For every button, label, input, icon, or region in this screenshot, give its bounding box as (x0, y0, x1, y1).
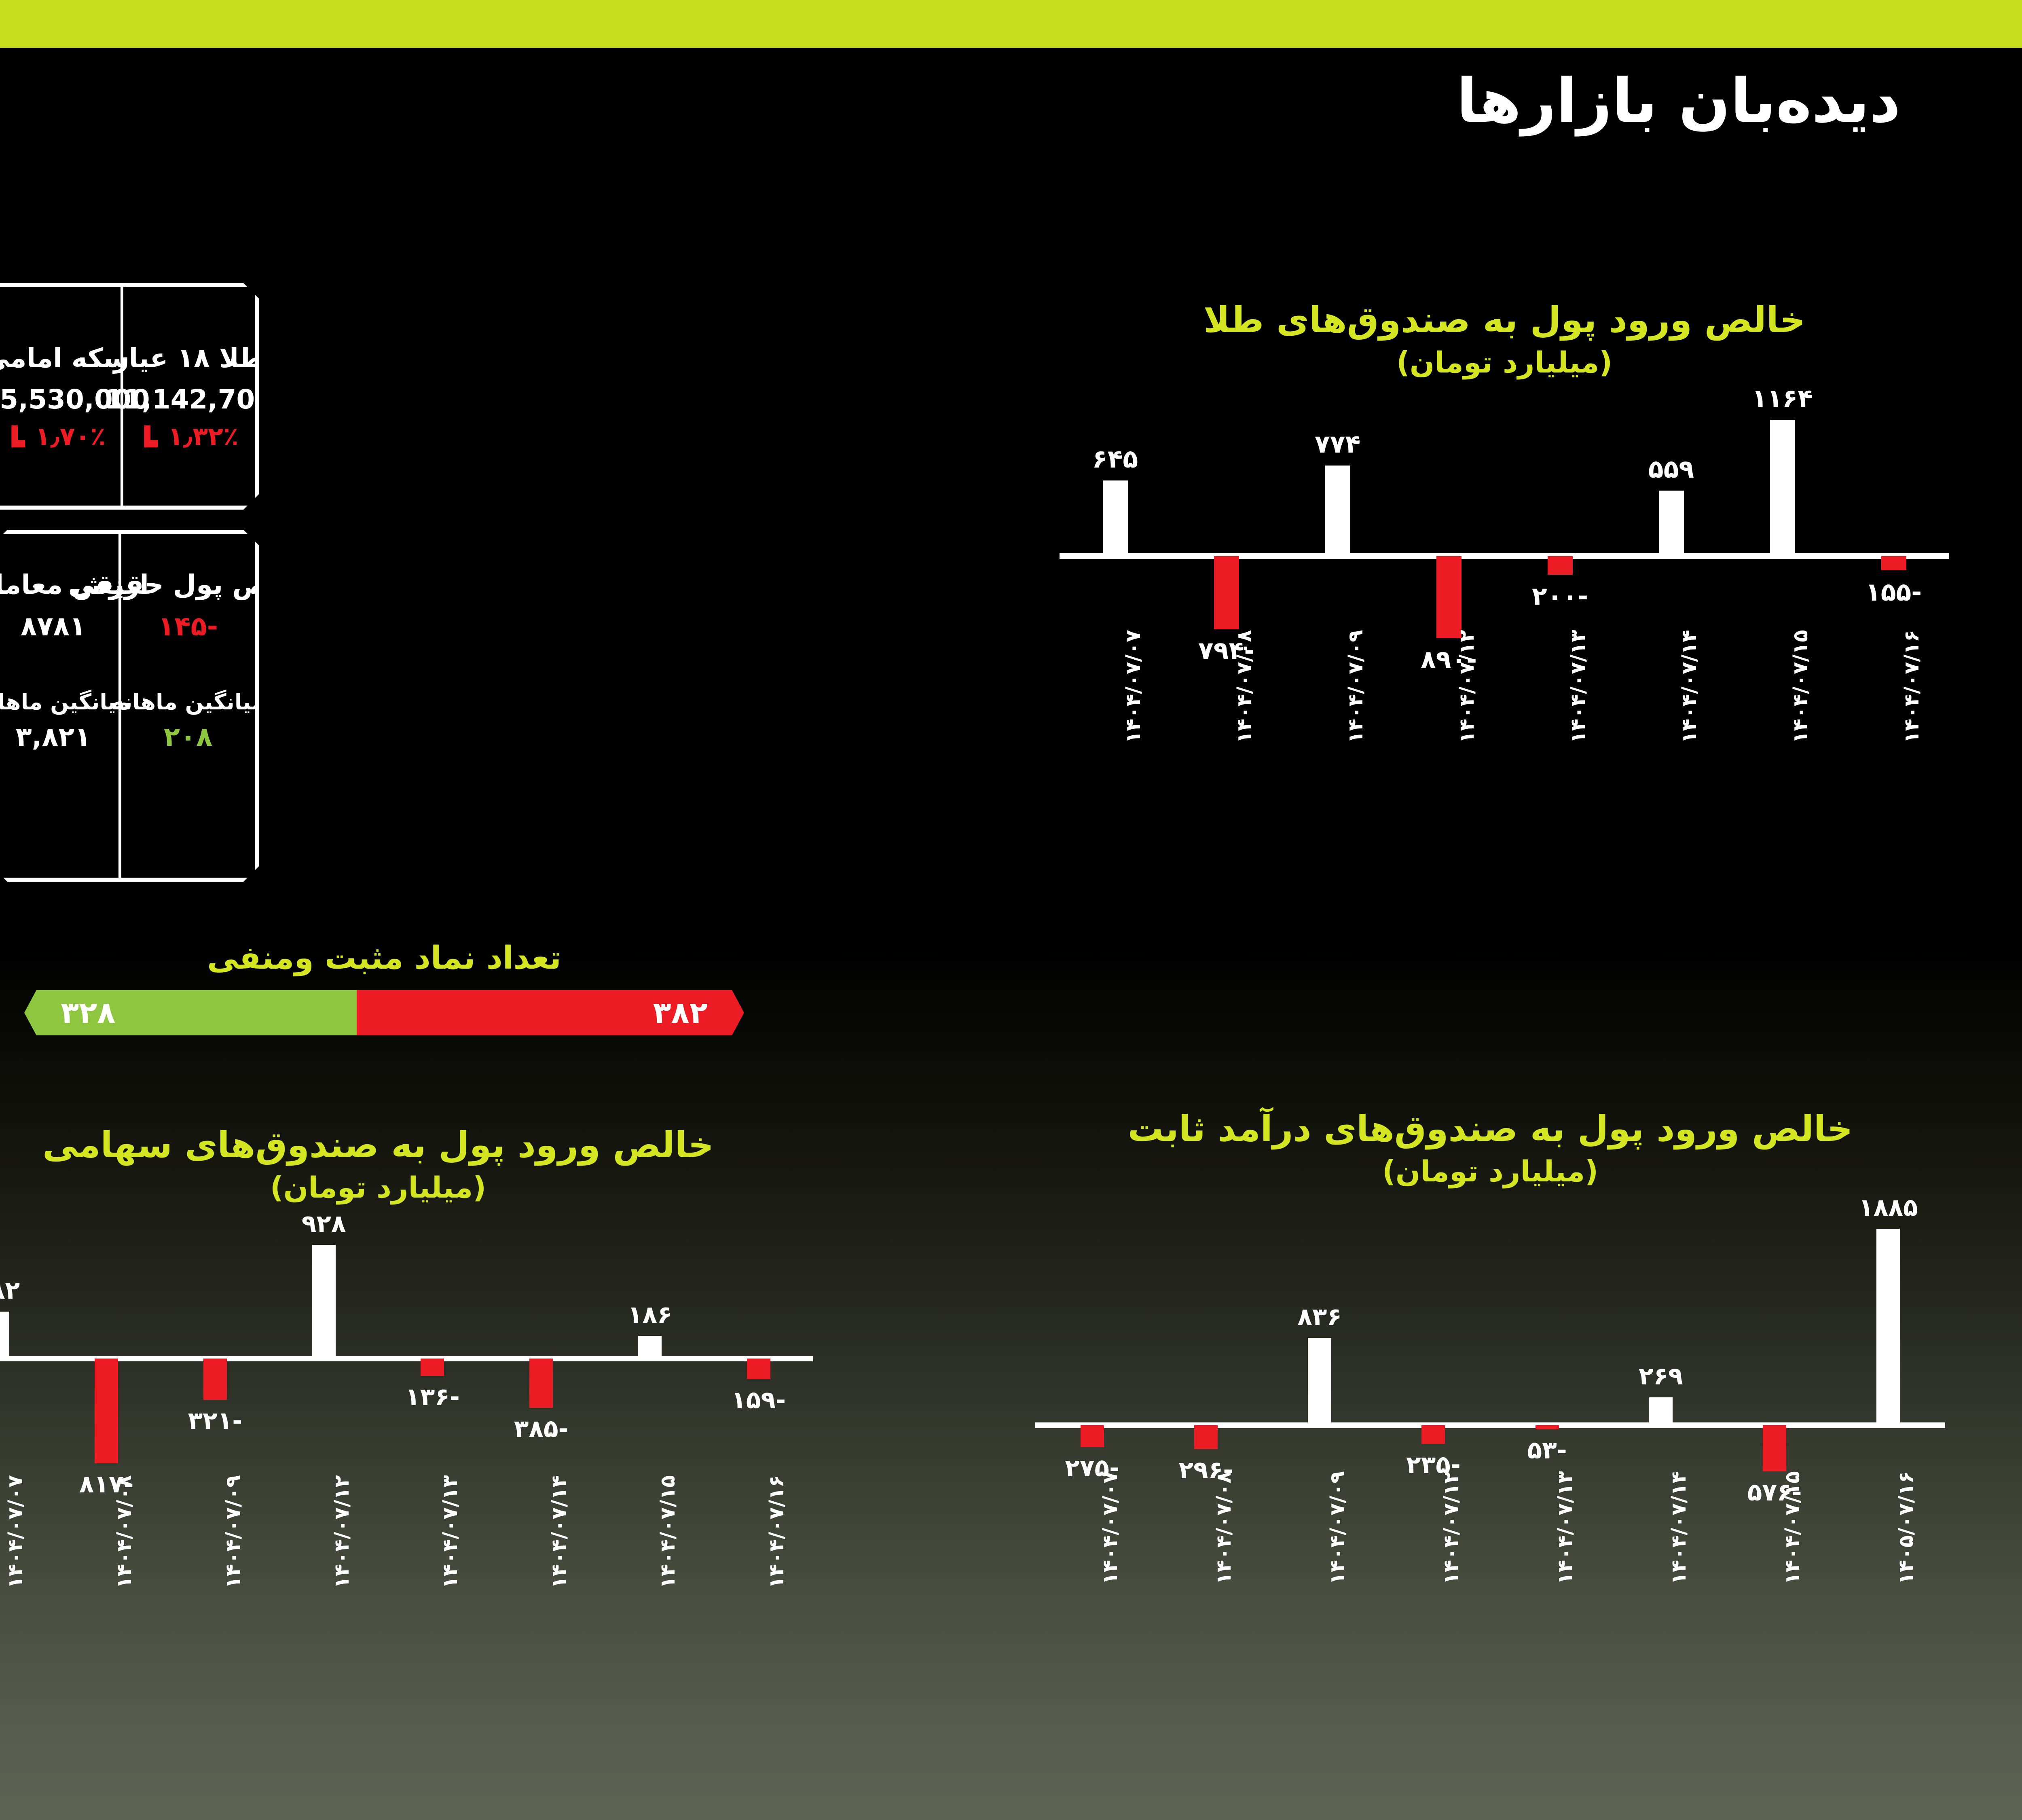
chart-bar-label: -۲۹۶ (1145, 1458, 1267, 1482)
chart-axis-line (1035, 1422, 1945, 1428)
chart-fixed-income-funds-net-inflow: خالص ورود پول به صندوق‌های درآمد ثابت(می… (1035, 1108, 1945, 1475)
chart-plot-area: -۲۷۵۱۴۰۴/۰۷/۰۷-۲۹۶۱۴۰۴/۰۷/۰۸۸۳۶۱۴۰۴/۰۷/۰… (1035, 1225, 1945, 1475)
chart-axis-line (0, 1356, 813, 1361)
chart-bar (638, 1336, 662, 1359)
chart-bar (1536, 1425, 1559, 1429)
chart-x-label: ۱۴۰۴/۰۷/۱۴ (549, 1475, 569, 1589)
chart-x-label: ۱۴۰۴/۰۷/۰۸ (1214, 1471, 1234, 1585)
chart-subtitle: (میلیارد تومان) (1035, 1155, 1945, 1188)
chart-x-label: ۱۴۰۴/۰۷/۰۹ (223, 1475, 243, 1589)
chart-subtitle: (میلیارد تومان) (0, 1171, 813, 1204)
chart-bar-label: -۳۲۱ (154, 1409, 276, 1433)
price-card-group: طلا ۱۸ عیار 11,142,700 ۱٫۳۲٪ سکه امامی 1… (0, 283, 259, 510)
chart-bar (529, 1359, 553, 1408)
chart-bar-label: ۱۸۶ (589, 1303, 711, 1327)
chart-gold-funds-net-inflow: خالص ورود پول به صندوق‌های طلا(میلیارد ت… (1060, 299, 1949, 642)
chart-x-label: ۱۴۰۴/۰۷/۱۴ (1679, 630, 1699, 743)
card-value: 115,530,000 (0, 384, 150, 415)
chart-title: خالص ورود پول به صندوق‌های طلا (1060, 299, 1949, 340)
chart-bar-label: ۷۷۴ (1277, 432, 1398, 457)
chart-bar (421, 1359, 444, 1376)
chart-bar-label: -۱۳۶ (372, 1385, 493, 1409)
background-gradient (0, 0, 2022, 1820)
chart-bar-label: -۵۳ (1487, 1438, 1608, 1462)
chart-x-label: ۱۴۰۴/۰۷/۱۵ (658, 1475, 678, 1589)
chart-bar-label: -۱۵۵ (1833, 580, 1954, 605)
chart-x-label: ۱۴۰۴/۰۷/۱۳ (1568, 630, 1588, 743)
chart-bar (1548, 556, 1573, 575)
chart-bar (203, 1359, 227, 1400)
card-label: سکه امامی (0, 344, 129, 373)
card-change: ۱٫۷۰٪ (7, 424, 106, 449)
chart-bar (1103, 480, 1128, 556)
chart-x-label: ۱۴۰۴/۰۷/۰۷ (5, 1475, 25, 1589)
chart-x-label: ۱۴۰۴/۰۷/۱۵ (1782, 1471, 1802, 1585)
card-change-value: ۱٫۷۰٪ (35, 424, 106, 449)
chart-equity-funds-net-inflow: خالص ورود پول به صندوق‌های سهامی(میلیارد… (0, 1124, 813, 1467)
arrow-down-icon (7, 424, 29, 449)
chart-plot-area: ۶۴۵۱۴۰۴/۰۷/۰۷-۷۹۴۱۴۰۴/۰۷/۰۸۷۷۴۱۴۰۴/۰۷/۰۹… (1060, 416, 1949, 642)
chart-bar (1081, 1425, 1104, 1447)
chart-plot-area: ۳۸۲۱۴۰۴/۰۷/۰۷-۸۱۷۱۴۰۴/۰۷/۰۸-۳۲۱۱۴۰۴/۰۷/۰… (0, 1241, 813, 1467)
chart-x-label: ۱۴۰۴/۰۷/۰۹ (1327, 1471, 1347, 1585)
symbol-counter-negative-segment: ۳۸۲ (357, 990, 744, 1035)
price-card-coin[interactable]: سکه امامی 115,530,000 ۱٫۷۰٪ (0, 287, 123, 506)
chart-x-label: ۱۴۰۴/۰۷/۰۹ (1345, 630, 1366, 743)
chart-bar-label: -۲۷۵ (1032, 1456, 1153, 1480)
chart-x-label: ۱۴۰۴/۰۷/۱۳ (1555, 1471, 1575, 1585)
chart-bar (1876, 1229, 1900, 1425)
symbol-counter-positive-segment: ۳۲۸ (24, 990, 357, 1035)
page-title: دیده‌بان بازارها (1457, 71, 1901, 131)
symbol-counter-negative-value: ۳۸۲ (617, 995, 745, 1030)
chart-bar-label: -۲۰۰ (1500, 584, 1621, 609)
chart-bar (95, 1359, 118, 1463)
chart-bar-label: ۸۳۶ (1259, 1305, 1380, 1329)
chart-bar-label: ۱۸۸۵ (1827, 1196, 1949, 1220)
market-stats-card-group: خالص پول حقیقی -۱۴۵ میانگین ماهانه ۲۰۸ ا… (0, 530, 259, 882)
chart-bar (1214, 556, 1239, 629)
chart-title: خالص ورود پول به صندوق‌های سهامی (0, 1124, 813, 1165)
chart-x-label: ۱۴۰۴/۰۷/۱۲ (1441, 1471, 1461, 1585)
chart-x-label: ۱۴۰۴/۰۷/۱۳ (440, 1475, 460, 1589)
chart-bar-label: -۵۷۶ (1714, 1480, 1835, 1505)
chart-bar-label: -۲۳۵ (1373, 1453, 1494, 1477)
symbol-counter-positive-value: ۳۲۸ (24, 995, 152, 1030)
price-cards-row-2: خالص پول حقیقی -۱۴۵ میانگین ماهانه ۲۰۸ ا… (0, 530, 259, 882)
chart-bar-label: ۵۵۹ (1611, 457, 1732, 482)
chart-bar (1421, 1425, 1445, 1444)
chart-title: خالص ورود پول به صندوق‌های درآمد ثابت (1035, 1108, 1945, 1149)
card-value: ۸۷۸۱ (21, 611, 86, 642)
chart-x-label: ۱۴۰۴/۰۷/۱۶ (1901, 630, 1922, 743)
chart-bar (1308, 1338, 1331, 1425)
chart-x-label: ۱۴۰۴/۰۷/۱۲ (1457, 630, 1477, 743)
chart-bar-label: -۸۱۷ (46, 1472, 167, 1496)
symbol-counter-title: تعداد نماد مثبت ومنفی (24, 942, 744, 974)
chart-x-label: ۱۴۰۴/۰۷/۱۲ (332, 1475, 352, 1589)
chart-subtitle: (میلیارد تومان) (1060, 346, 1949, 379)
card-label: طلا ۱۸ عیار (114, 344, 265, 373)
card-label: ارزش معاملات (0, 570, 149, 600)
card-sub-label: میانگین ماهانه (0, 690, 130, 714)
chart-bar-label: -۸۹۰ (1388, 647, 1510, 672)
chart-bar-label: ۳۸۲ (0, 1278, 58, 1303)
chart-bar-label: ۱۱۶۴ (1722, 386, 1843, 411)
arrow-down-icon (140, 424, 161, 449)
symbol-counter: تعداد نماد مثبت ومنفی ۳۸۲ ۳۲۸ (24, 942, 744, 1035)
chart-x-label: ۱۴۰۵/۰۷/۱۶ (1896, 1471, 1916, 1585)
chart-bar-label: -۳۸۵ (480, 1417, 602, 1441)
chart-bar (1659, 491, 1684, 556)
card-change: ۱٫۳۲٪ (140, 424, 239, 449)
chart-bar (1770, 420, 1795, 556)
chart-axis-line (1060, 553, 1949, 559)
symbol-counter-bar: ۳۸۲ ۳۲۸ (24, 990, 744, 1035)
chart-bar (1881, 556, 1906, 570)
chart-bar (1436, 556, 1462, 638)
chart-bar (312, 1245, 336, 1359)
stat-card-trade-value[interactable]: ارزش معاملات ۸۷۸۱ میانگین ماهانه ۳,۸۲۱ (0, 534, 121, 878)
chart-bar-label: ۶۴۵ (1055, 447, 1176, 472)
chart-x-label: ۱۴۰۴/۰۷/۰۷ (1100, 1471, 1120, 1585)
chart-bar (0, 1312, 9, 1359)
chart-bar-label: ۲۶۹ (1600, 1364, 1722, 1388)
chart-bar (1649, 1397, 1673, 1425)
chart-bar-label: -۱۵۹ (698, 1388, 819, 1412)
price-cards-row-1: طلا ۱۸ عیار 11,142,700 ۱٫۳۲٪ سکه امامی 1… (0, 283, 259, 510)
chart-x-label: ۱۴۰۴/۰۷/۰۸ (1234, 630, 1254, 743)
chart-x-label: ۱۴۰۴/۰۷/۱۵ (1790, 630, 1810, 743)
chart-bar (1763, 1425, 1786, 1471)
chart-bar-label: -۷۹۴ (1166, 638, 1287, 663)
chart-bar (1325, 466, 1350, 556)
chart-x-label: ۱۴۰۴/۰۷/۱۶ (766, 1475, 787, 1589)
card-sub-value: ۳,۸۲۱ (15, 722, 91, 752)
chart-bar-label: ۹۲۸ (263, 1212, 385, 1236)
card-value: -۱۴۵ (158, 611, 218, 642)
chart-bar (1194, 1425, 1218, 1449)
chart-x-label: ۱۴۰۴/۰۷/۰۷ (1123, 630, 1143, 743)
top-accent-bar (0, 0, 2022, 48)
card-sub-value: ۲۰۸ (164, 722, 213, 752)
chart-x-label: ۱۴۰۴/۰۷/۰۸ (114, 1475, 134, 1589)
chart-x-label: ۱۴۰۴/۰۷/۱۴ (1669, 1471, 1689, 1585)
card-change-value: ۱٫۳۲٪ (168, 424, 239, 449)
chart-bar (747, 1359, 770, 1379)
card-sub-label: میانگین ماهانه (111, 690, 265, 714)
